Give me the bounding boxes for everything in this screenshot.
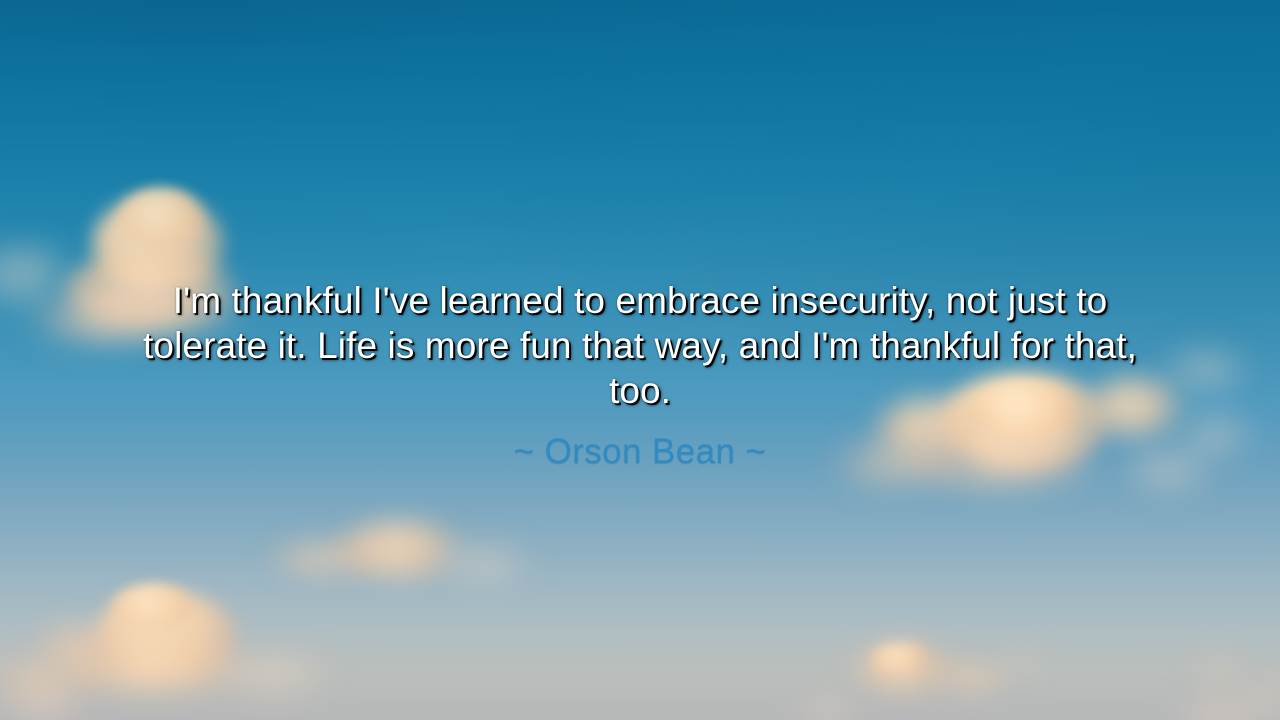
quote-image: I'm thankful I've learned to embrace ins…: [0, 0, 1280, 720]
quote-block: I'm thankful I've learned to embrace ins…: [115, 278, 1165, 473]
quote-text: I'm thankful I've learned to embrace ins…: [115, 278, 1165, 413]
quote-attribution: ~ Orson Bean ~: [115, 413, 1165, 473]
